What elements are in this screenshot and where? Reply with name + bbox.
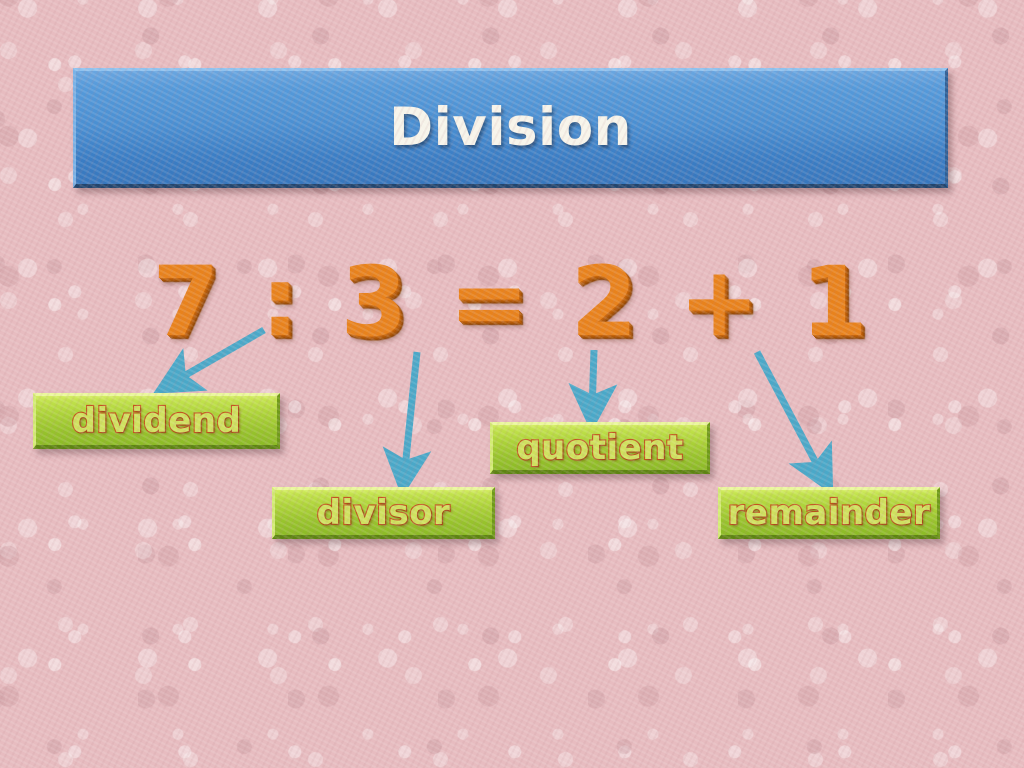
division-equation: 7 : 3 = 2 + 1 bbox=[0, 252, 1024, 352]
arrow-quotient-icon bbox=[592, 350, 594, 413]
label-box-divisor[interactable]: divisor bbox=[272, 487, 495, 539]
label-box-quotient[interactable]: quotient bbox=[490, 422, 710, 474]
arrow-remainder-icon bbox=[757, 352, 824, 478]
label-box-remainder[interactable]: remainder bbox=[718, 487, 940, 539]
label-box-dividend[interactable]: dividend bbox=[33, 393, 280, 449]
label-text-remainder: remainder bbox=[728, 493, 931, 533]
arrow-divisor-icon bbox=[404, 352, 417, 478]
label-text-quotient: quotient bbox=[516, 428, 683, 468]
label-text-dividend: dividend bbox=[72, 401, 242, 441]
title-bar: Division bbox=[73, 68, 948, 188]
page-title: Division bbox=[389, 97, 632, 158]
slide-canvas: Division 7 : 3 = 2 + 1 dividend divisor … bbox=[0, 0, 1024, 768]
label-text-divisor: divisor bbox=[317, 493, 451, 533]
